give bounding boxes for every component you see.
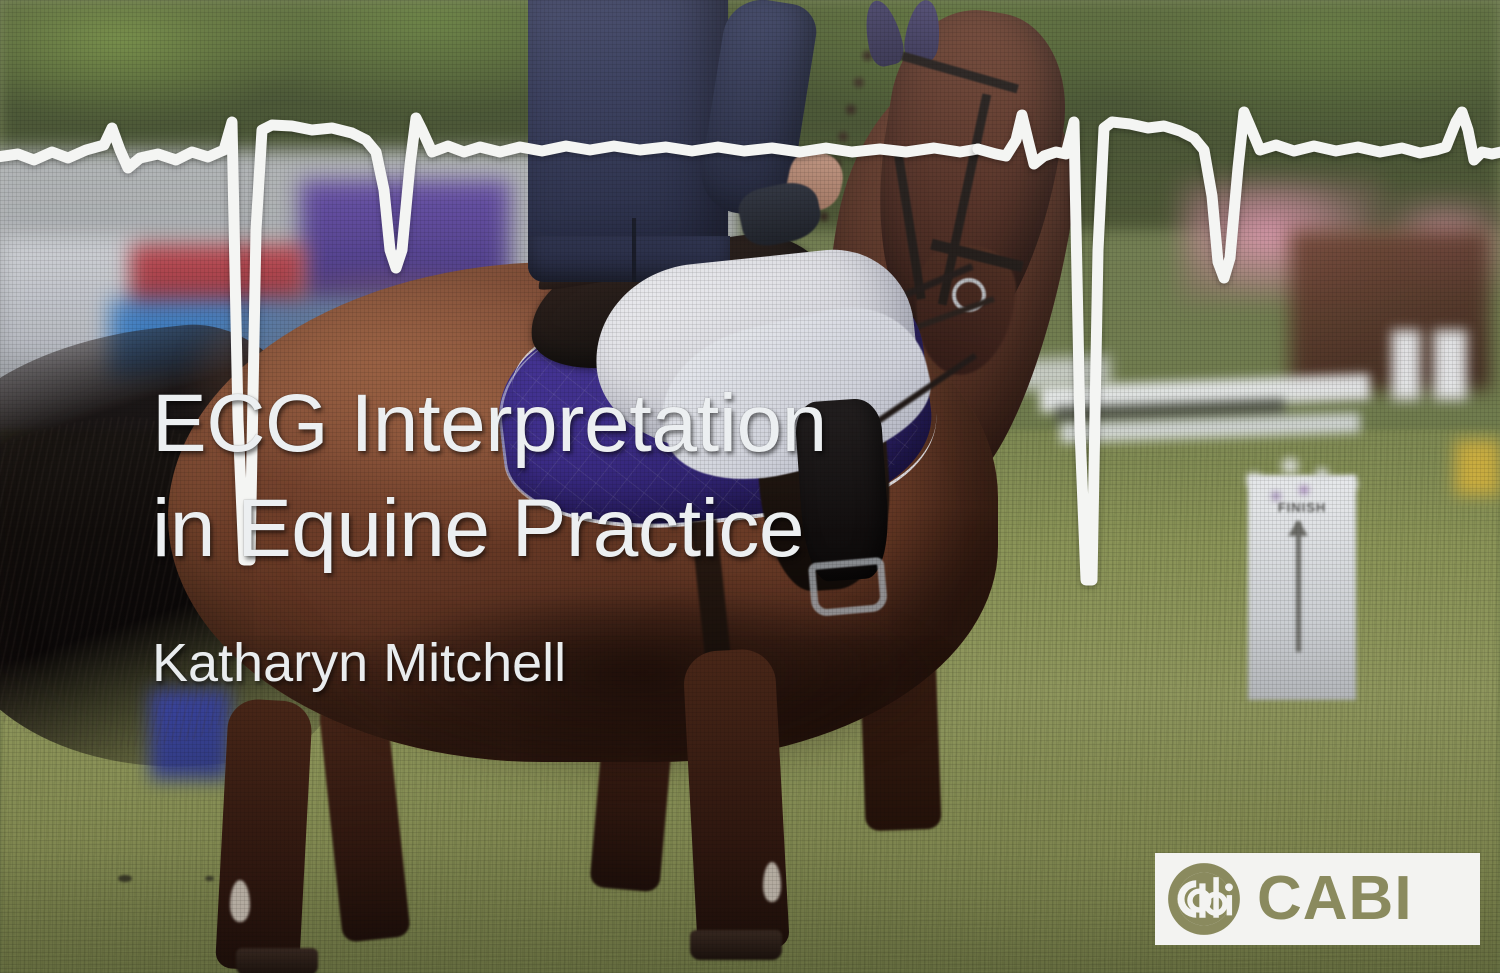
grass-speck (118, 875, 132, 882)
page-title-line-1: ECG Interpretation (152, 372, 1152, 477)
grass-speck (205, 876, 214, 881)
rider-jacket-vent (632, 218, 636, 282)
book-cover: FINISH (0, 0, 1500, 973)
background-distant-horse-legs (1385, 330, 1490, 400)
horse-hoof (236, 948, 318, 973)
title-block: ECG Interpretation in Equine Practice (152, 372, 1152, 582)
author-name: Katharyn Mitchell (152, 632, 566, 694)
horse-leg-marking (763, 862, 781, 902)
background-yellow-marker (1455, 440, 1500, 495)
page-title-line-2: in Equine Practice (152, 477, 1152, 582)
finish-marker-flowers (1230, 440, 1380, 510)
finish-marker-arrow-shaft (1296, 522, 1301, 652)
horse-leg-marking (230, 880, 250, 922)
horse-leg-front-near (215, 698, 313, 972)
publisher-logo: CABI (1155, 853, 1480, 945)
horse-leg-hind-near (682, 648, 790, 952)
publisher-wordmark: CABI (1257, 868, 1413, 930)
horse-hoof (690, 930, 782, 960)
cabi-logomark-icon (1165, 860, 1243, 938)
